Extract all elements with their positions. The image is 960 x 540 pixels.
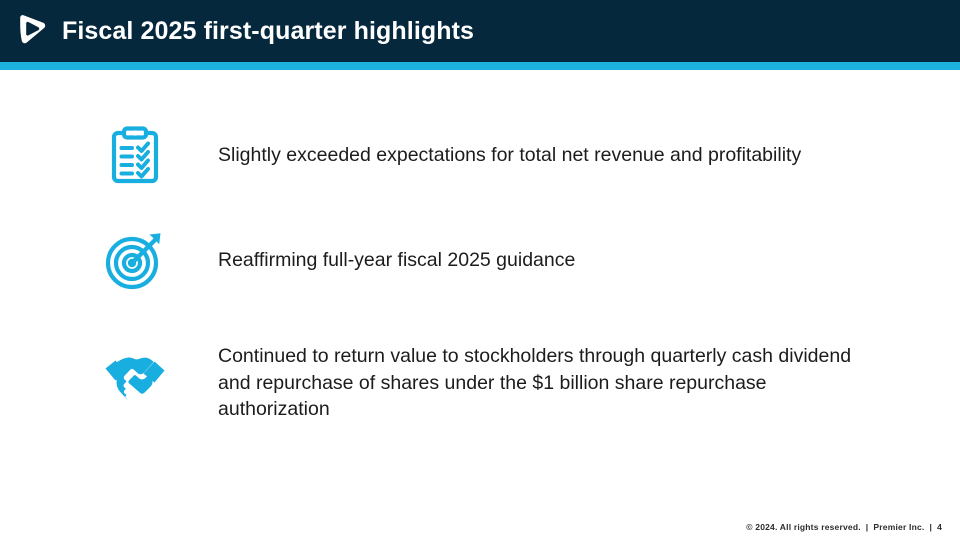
slide-body: Slightly exceeded expectations for total…	[0, 70, 960, 510]
slide-header: Fiscal 2025 first-quarter highlights	[0, 0, 960, 62]
header-accent-bar	[0, 62, 960, 70]
footer-page-number: 4	[937, 522, 942, 532]
highlight-item: Reaffirming full-year fiscal 2025 guidan…	[100, 225, 880, 295]
highlight-text: Slightly exceeded expectations for total…	[218, 120, 801, 169]
clipboard-checklist-icon	[100, 120, 170, 190]
highlight-item: Continued to return value to stockholder…	[100, 340, 880, 423]
highlight-text: Reaffirming full-year fiscal 2025 guidan…	[218, 225, 575, 274]
footer-separator: |	[866, 522, 869, 532]
slide-footer: © 2024. All rights reserved. | Premier I…	[746, 522, 942, 532]
footer-separator: |	[929, 522, 932, 532]
target-arrow-icon	[100, 225, 170, 295]
page-title: Fiscal 2025 first-quarter highlights	[62, 0, 474, 62]
footer-company: Premier Inc.	[873, 522, 924, 532]
highlight-item: Slightly exceeded expectations for total…	[100, 120, 880, 190]
slide: Fiscal 2025 first-quarter highlights	[0, 0, 960, 540]
premier-logo-icon	[14, 13, 50, 49]
highlight-text: Continued to return value to stockholder…	[218, 340, 858, 423]
handshake-icon	[100, 340, 170, 410]
footer-copyright: © 2024. All rights reserved.	[746, 522, 861, 532]
